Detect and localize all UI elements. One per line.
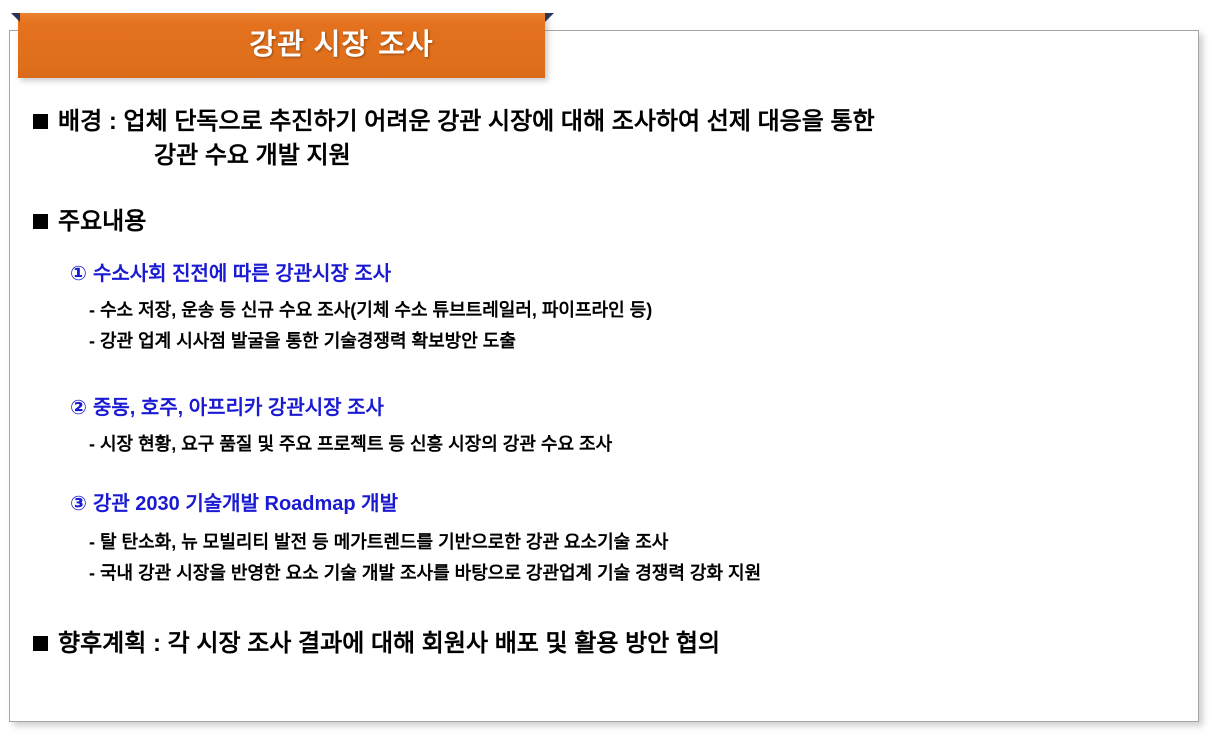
circled-number-3-icon: ③ <box>70 493 87 515</box>
square-bullet-icon <box>33 114 48 129</box>
content-item-3-heading-text: 강관 2030 기술개발 Roadmap 개발 <box>93 493 398 515</box>
section-main-contents: 주요내용 <box>33 207 146 237</box>
content-item-3-heading: ③강관 2030 기술개발 Roadmap 개발 <box>70 491 398 517</box>
content-item-1-detail-1: - 수소 저장, 운송 등 신규 수요 조사(기체 수소 튜브트레일러, 파이프… <box>89 298 652 322</box>
square-bullet-icon <box>33 214 48 229</box>
section-main-contents-label: 주요내용 <box>58 207 146 237</box>
section-background: 배경 : 업체 단독으로 추진하기 어려운 강관 시장에 대해 조사하여 선제 … <box>33 107 875 137</box>
section-background-continuation: 강관 수요 개발 지원 <box>154 141 351 171</box>
slide-body: 배경 : 업체 단독으로 추진하기 어려운 강관 시장에 대해 조사하여 선제 … <box>9 80 1199 722</box>
content-item-3-detail-1: - 탈 탄소화, 뉴 모빌리티 발전 등 메가트렌드를 기반으로한 강관 요소기… <box>89 530 668 554</box>
page-title: 강관 시장 조사 <box>18 13 545 78</box>
content-item-1-heading-text: 수소사회 진전에 따른 강관시장 조사 <box>93 263 391 285</box>
content-item-1-detail-2: - 강관 업계 시사점 발굴을 통한 기술경쟁력 확보방안 도출 <box>89 329 516 353</box>
section-future-plan-label: 향후계획 : 각 시장 조사 결과에 대해 회원사 배포 및 활용 방안 협의 <box>58 629 720 659</box>
slide-root: 강관 시장 조사 배경 : 업체 단독으로 추진하기 어려운 강관 시장에 대해… <box>0 0 1220 737</box>
circled-number-1-icon: ① <box>70 263 87 285</box>
content-item-2-heading-text: 중동, 호주, 아프리카 강관시장 조사 <box>93 397 384 419</box>
content-item-2-detail-1: - 시장 현황, 요구 품질 및 주요 프로젝트 등 신흥 시장의 강관 수요 … <box>89 432 612 456</box>
content-item-1-heading: ①수소사회 진전에 따른 강관시장 조사 <box>70 261 391 287</box>
section-background-label: 배경 : 업체 단독으로 추진하기 어려운 강관 시장에 대해 조사하여 선제 … <box>58 107 875 137</box>
title-banner: 강관 시장 조사 <box>18 13 545 78</box>
square-bullet-icon <box>33 636 48 651</box>
section-future-plan: 향후계획 : 각 시장 조사 결과에 대해 회원사 배포 및 활용 방안 협의 <box>33 629 720 659</box>
circled-number-2-icon: ② <box>70 397 87 419</box>
banner-fold-left-icon <box>11 13 20 22</box>
content-item-3-detail-2: - 국내 강관 시장을 반영한 요소 기술 개발 조사를 바탕으로 강관업계 기… <box>89 561 761 585</box>
banner-fold-right-icon <box>545 13 554 22</box>
content-item-2-heading: ②중동, 호주, 아프리카 강관시장 조사 <box>70 395 384 421</box>
